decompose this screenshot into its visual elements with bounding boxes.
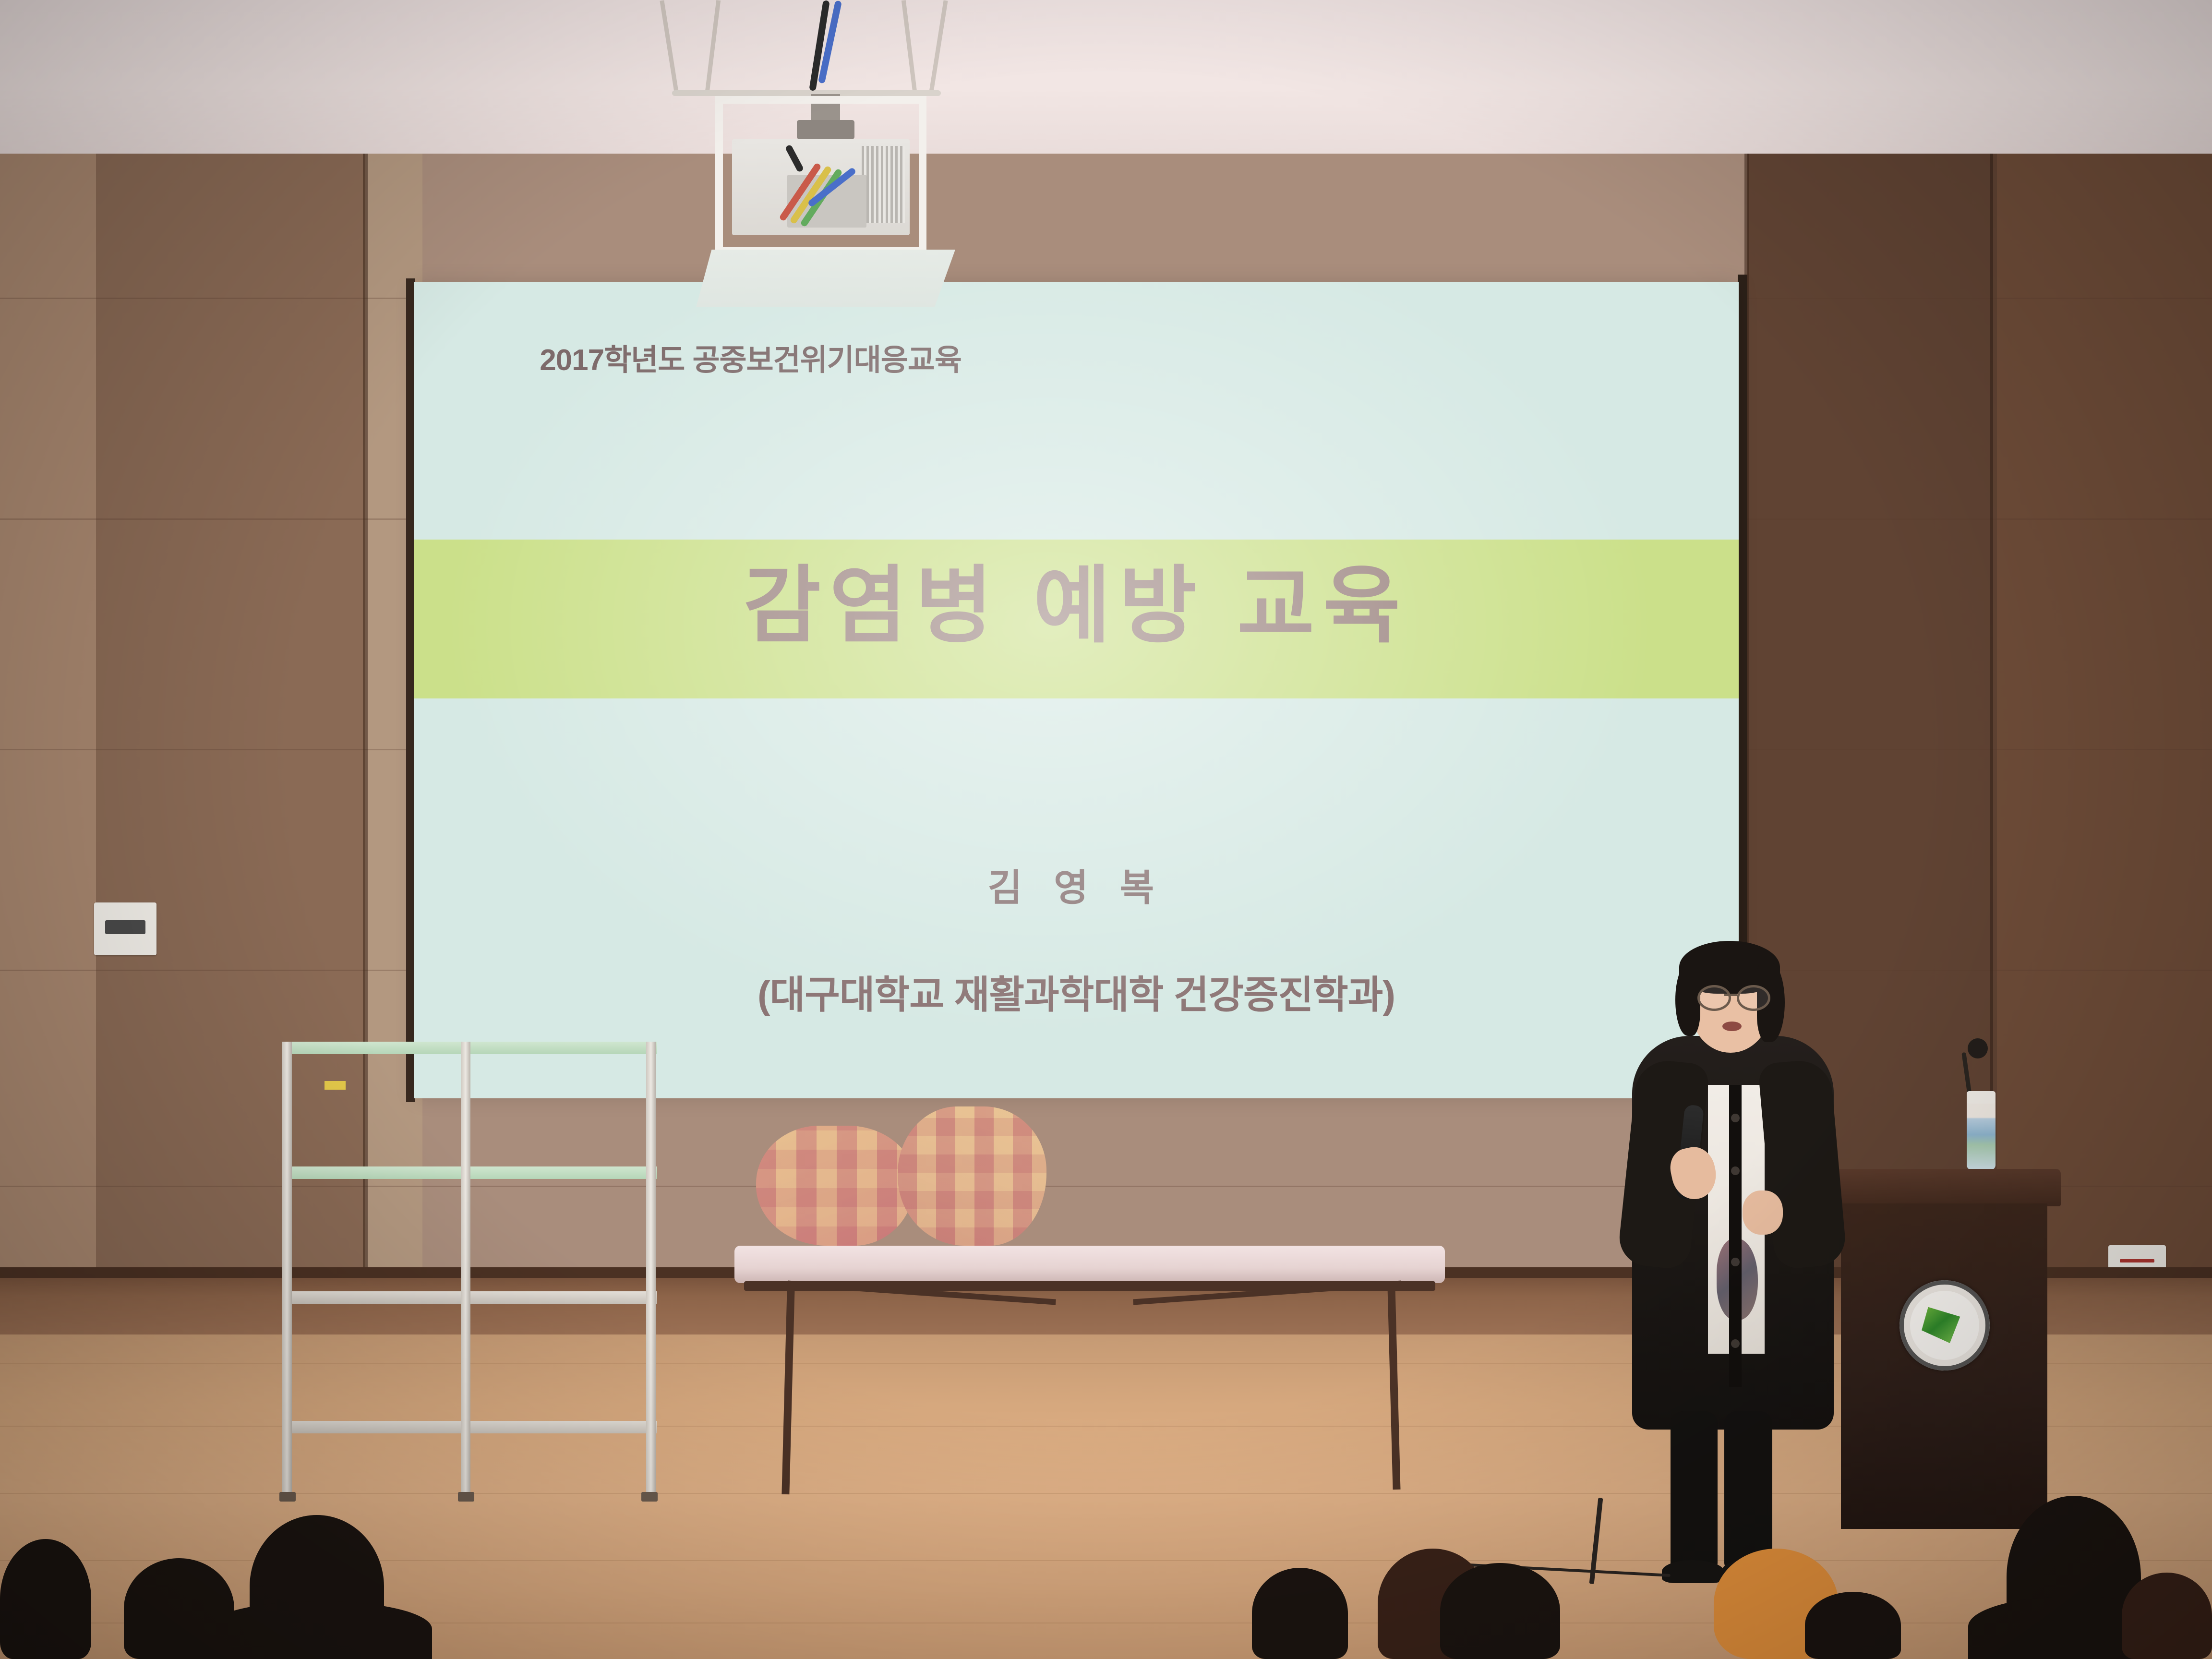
presenter — [1599, 941, 1848, 1613]
presenter-mouth — [1722, 1022, 1742, 1031]
audience-head — [1440, 1563, 1560, 1659]
folding-table — [734, 1246, 1445, 1495]
lectern-body — [1841, 1203, 2047, 1529]
switch-rocker[interactable] — [105, 920, 145, 934]
cushion-right — [898, 1106, 1046, 1246]
lecture-hall-scene: 2017학년도 공중보건위기대응교육 감염병 예방 교육 김 영 복 (대구대학… — [0, 0, 2212, 1659]
audience-head — [124, 1558, 234, 1659]
audience-shoulders — [206, 1601, 432, 1659]
bottle-cap — [1967, 1091, 1996, 1104]
eyeglasses-left-lens — [1697, 985, 1731, 1011]
eyeglasses-right-lens — [1737, 985, 1770, 1011]
metal-shelving-rack — [282, 1042, 657, 1493]
switch-indicator — [2120, 1259, 2154, 1262]
table-top — [734, 1246, 1445, 1283]
presenter-hair-left — [1675, 964, 1700, 1036]
audience-head — [1805, 1592, 1901, 1659]
audience-head — [2122, 1573, 2212, 1659]
shelf-label-tag — [325, 1081, 346, 1090]
projector-vent — [862, 146, 905, 223]
water-bottle — [1967, 1097, 1996, 1170]
presenter-left-shoe — [1662, 1560, 1724, 1583]
cushion-left — [756, 1126, 914, 1246]
presenter-left-leg — [1671, 1411, 1718, 1570]
presenter-right-leg — [1724, 1411, 1772, 1570]
slide-title-text: 감염병 예방 교육 — [414, 564, 1739, 648]
projector-body — [732, 139, 910, 235]
ceiling — [0, 0, 2212, 158]
audience-head — [0, 1539, 91, 1659]
audience-head — [1252, 1568, 1348, 1659]
slide-presenter-affiliation: (대구대학교 재활과학대학 건강증진학과) — [414, 964, 1739, 1020]
university-emblem — [1899, 1280, 1990, 1370]
lectern-top — [1827, 1169, 2061, 1206]
slide-presenter-name: 김 영 복 — [414, 858, 1739, 912]
projector-shroud — [696, 250, 955, 307]
ceiling-projector — [638, 0, 1022, 317]
gooseneck-mic-head — [1968, 1038, 1988, 1058]
emblem-ring — [1899, 1280, 1990, 1370]
projection-screen: 2017학년도 공중보건위기대응교육 감염병 예방 교육 김 영 복 (대구대학… — [414, 282, 1739, 1098]
wall-switch-plate-left[interactable] — [94, 902, 156, 955]
lectern — [1841, 1169, 2047, 1529]
slide-header-text: 2017학년도 공중보건위기대응교육 — [540, 336, 962, 379]
presenter-right-hand — [1743, 1190, 1783, 1235]
eyeglasses-bridge — [1724, 994, 1737, 996]
